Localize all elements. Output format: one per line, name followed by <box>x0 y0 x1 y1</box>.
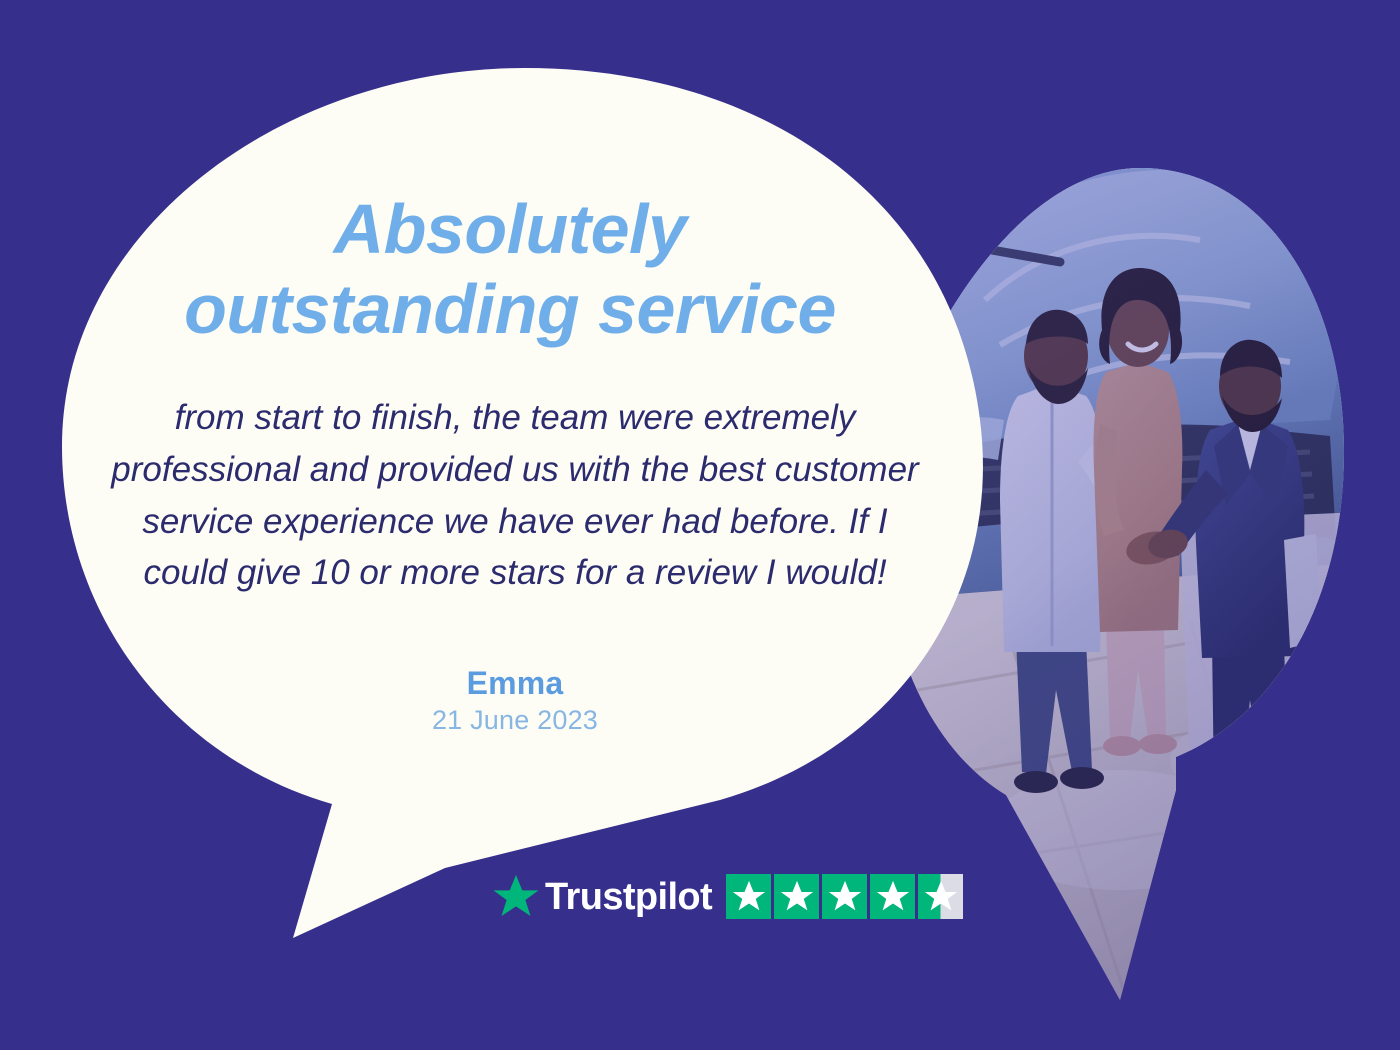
review-testimonial-card: Absolutely outstanding service from star… <box>0 0 1400 1050</box>
bubble-artwork <box>0 0 1400 1050</box>
